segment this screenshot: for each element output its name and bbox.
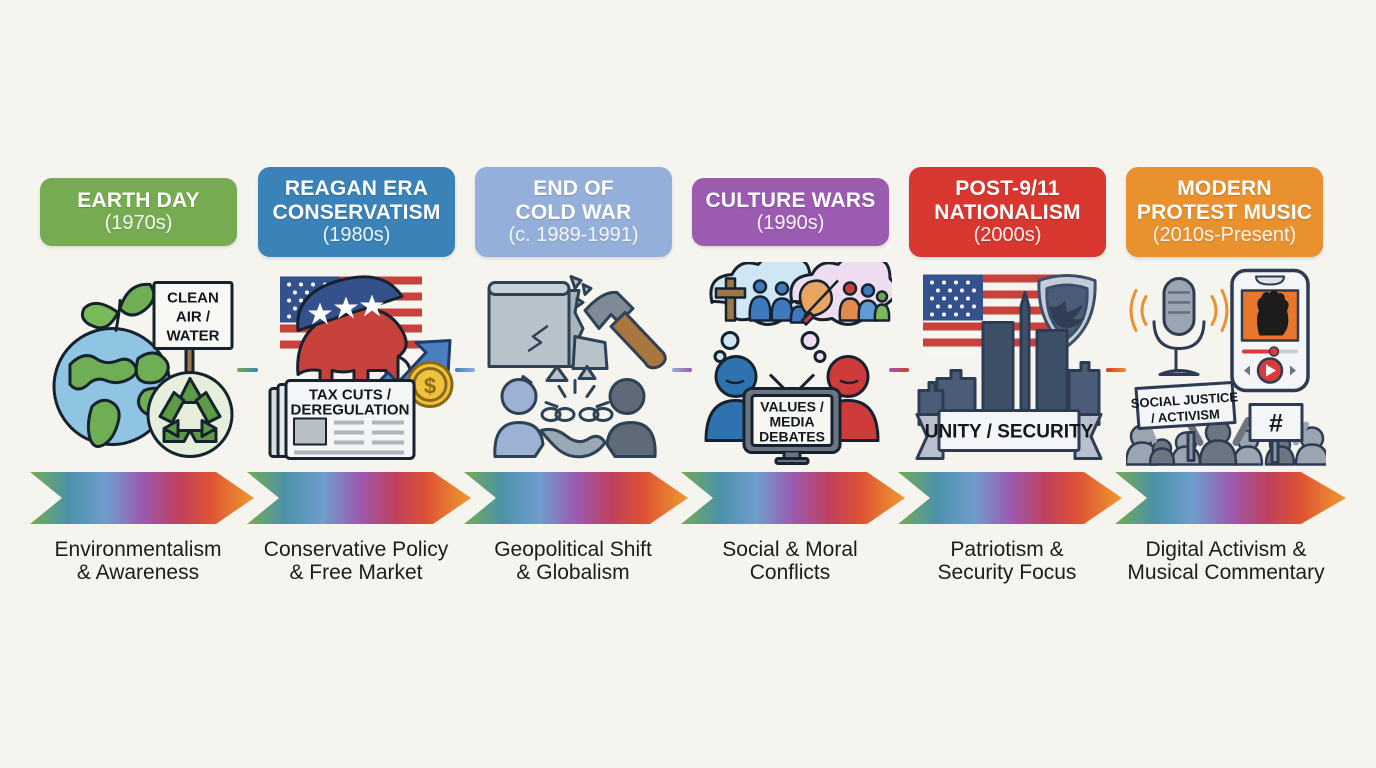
cold-war-illustration [475,262,675,467]
recycle-icon [148,373,232,457]
caption-line-2: Conflicts [680,561,900,584]
stage-period: (1990s) [757,212,825,235]
headline-line-2: DEREGULATION [291,402,410,419]
screen-line-3: DEBATES [759,429,825,445]
sign-line-1: CLEAN [167,290,219,307]
raised-fist-icon [1258,292,1288,335]
stage-title-line1: MODERN [1177,177,1272,201]
connector-4 [889,368,909,372]
sign-line-3: WATER [166,328,219,345]
connector-2 [455,368,475,372]
microphone-icon [1154,279,1204,375]
sign-line-2: AIR / [176,309,211,326]
caption-culture-wars: Social & Moral Conflicts [680,538,900,584]
progress-arrow-band [0,468,1376,528]
stage-title-line2: PROTEST MUSIC [1137,201,1312,225]
caption-row: Environmentalism & Awareness Conservativ… [0,538,1376,598]
connector-3 [672,368,692,372]
breaking-chain-icon [542,381,612,421]
stage-period: (2010s-Present) [1153,224,1296,247]
caption-post-911: Patriotism & Security Focus [897,538,1117,584]
connector-1 [237,368,258,372]
stage-period: (1970s) [105,212,173,235]
caption-reagan-era: Conservative Policy & Free Market [246,538,466,584]
caption-line-1: Conservative Policy [246,538,466,561]
connector-5 [1106,368,1126,372]
stage-title-line2: NATIONALISM [934,201,1080,225]
stage-title-line1: POST-9/11 [955,177,1060,201]
hashtag-sign-text: # [1269,410,1283,438]
caption-line-1: Environmentalism [28,538,248,561]
earth-day-illustration: CLEAN AIR / WATER [40,262,240,467]
caption-end-of-cold-war: Geopolitical Shift & Globalism [463,538,683,584]
stage-title: CULTURE WARS [705,189,875,213]
caption-line-1: Digital Activism & [1110,538,1342,561]
caption-line-2: & Awareness [28,561,248,584]
stage-title-line1: END OF [533,177,614,201]
stage-header-earth-day[interactable]: EARTH DAY (1970s) [40,178,237,246]
post-911-illustration: UNITY / SECURITY [909,262,1109,467]
timeline-header-row: EARTH DAY (1970s) REAGAN ERA CONSERVATIS… [0,160,1376,260]
gop-elephant-icon [298,277,411,385]
stage-header-end-of-cold-war[interactable]: END OF COLD WAR (c. 1989-1991) [475,167,672,257]
screen-line-1: VALUES / [760,399,824,415]
caption-line-2: & Free Market [246,561,466,584]
caption-modern-protest: Digital Activism & Musical Commentary [1110,538,1342,584]
reagan-era-illustration: $ TAX CUTS / DEREGULATION [258,262,458,467]
stage-period: (c. 1989-1991) [508,224,638,247]
sprout-icon [82,284,153,330]
caption-line-1: Patriotism & [897,538,1117,561]
stage-header-reagan-era[interactable]: REAGAN ERA CONSERVATISM (1980s) [258,167,455,257]
stage-header-post-911-nationalism[interactable]: POST-9/11 NATIONALISM (2000s) [909,167,1106,257]
stage-period: (1980s) [323,224,391,247]
caption-line-1: Geopolitical Shift [463,538,683,561]
smartphone-icon [1232,271,1308,391]
stage-title-line2: COLD WAR [516,201,632,225]
banner-text: UNITY / SECURITY [925,422,1094,443]
modern-protest-illustration: SOCIAL JUSTICE / ACTIVISM # [1126,262,1326,467]
crumbling-wall-icon [489,277,607,385]
stage-title: EARTH DAY [77,189,199,213]
caption-earth-day: Environmentalism & Awareness [28,538,248,584]
screen-line-2: MEDIA [769,414,814,430]
stage-period: (2000s) [974,224,1042,247]
stage-header-modern-protest-music[interactable]: MODERN PROTEST MUSIC (2010s-Present) [1126,167,1323,257]
infographic-canvas: EARTH DAY (1970s) REAGAN ERA CONSERVATIS… [0,0,1376,768]
svg-text:$: $ [424,374,436,399]
stage-title-line2: CONSERVATISM [272,201,440,225]
caption-line-2: & Globalism [463,561,683,584]
stage-header-culture-wars[interactable]: CULTURE WARS (1990s) [692,178,889,246]
caption-line-2: Musical Commentary [1110,561,1342,584]
stage-title-line1: REAGAN ERA [285,177,428,201]
caption-line-2: Security Focus [897,561,1117,584]
caption-line-1: Social & Moral [680,538,900,561]
culture-wars-illustration: VALUES / MEDIA DEBATES [692,262,892,467]
